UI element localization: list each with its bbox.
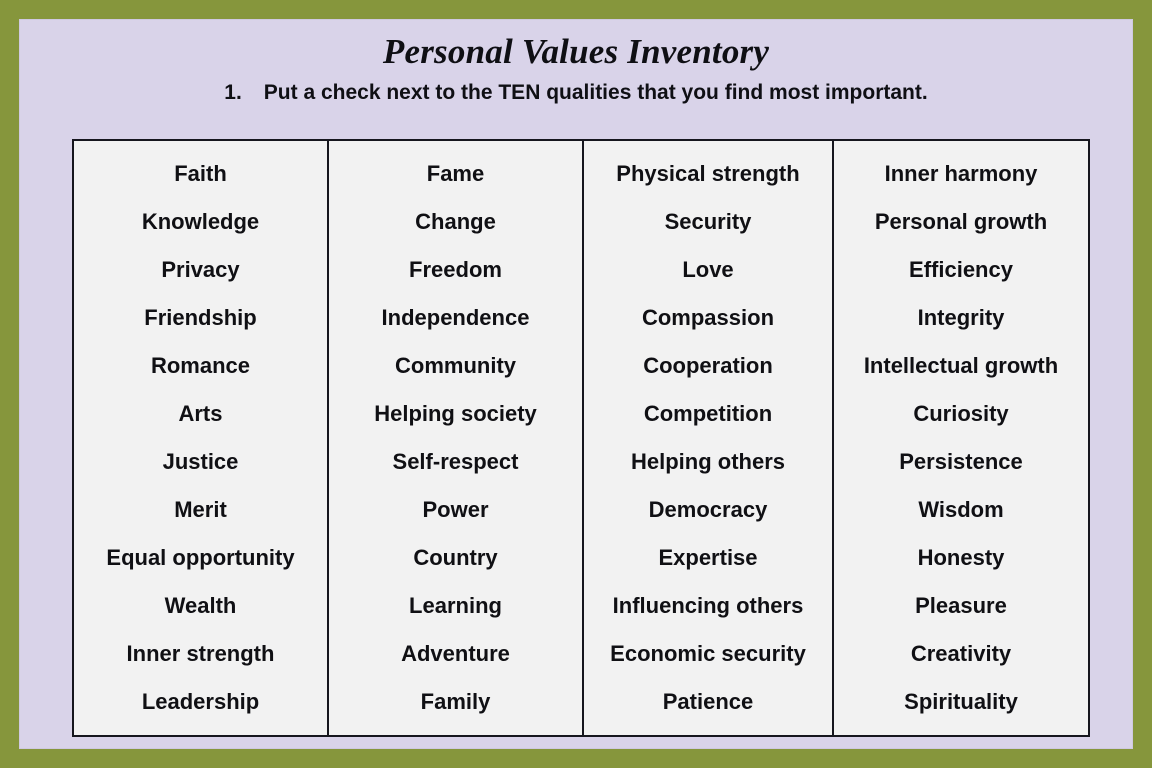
value-item[interactable]: Democracy — [584, 486, 832, 534]
value-item[interactable]: Expertise — [584, 534, 832, 582]
values-column-2-inner: Fame Change Freedom Independence Communi… — [329, 141, 582, 735]
page-frame: Personal Values Inventory 1.Put a check … — [0, 0, 1152, 768]
value-item[interactable]: Family — [329, 678, 582, 726]
value-item[interactable]: Adventure — [329, 630, 582, 678]
value-item[interactable]: Persistence — [834, 438, 1088, 486]
value-item[interactable]: Economic security — [584, 630, 832, 678]
values-column-1-inner: Faith Knowledge Privacy Friendship Roman… — [74, 141, 327, 735]
value-item[interactable]: Power — [329, 486, 582, 534]
value-item[interactable]: Faith — [74, 150, 327, 198]
value-item[interactable]: Self-respect — [329, 438, 582, 486]
value-item[interactable]: Wealth — [74, 582, 327, 630]
value-item[interactable]: Curiosity — [834, 390, 1088, 438]
value-item[interactable]: Helping others — [584, 438, 832, 486]
value-item[interactable]: Friendship — [74, 294, 327, 342]
values-column-2: Fame Change Freedom Independence Communi… — [328, 140, 583, 736]
value-item[interactable]: Community — [329, 342, 582, 390]
value-item[interactable]: Merit — [74, 486, 327, 534]
value-item[interactable]: Leadership — [74, 678, 327, 726]
value-item[interactable]: Change — [329, 198, 582, 246]
values-column-3: Physical strength Security Love Compassi… — [583, 140, 833, 736]
value-item[interactable]: Security — [584, 198, 832, 246]
instruction-line: 1.Put a check next to the TEN qualities … — [20, 81, 1132, 105]
value-item[interactable]: Cooperation — [584, 342, 832, 390]
value-item[interactable]: Physical strength — [584, 150, 832, 198]
value-item[interactable]: Influencing others — [584, 582, 832, 630]
value-item[interactable]: Arts — [74, 390, 327, 438]
value-item[interactable]: Wisdom — [834, 486, 1088, 534]
value-item[interactable]: Personal growth — [834, 198, 1088, 246]
value-item[interactable]: Compassion — [584, 294, 832, 342]
instruction-number: 1. — [224, 81, 242, 105]
value-item[interactable]: Helping society — [329, 390, 582, 438]
value-item[interactable]: Country — [329, 534, 582, 582]
value-item[interactable]: Knowledge — [74, 198, 327, 246]
instruction-text: Put a check next to the TEN qualities th… — [264, 81, 928, 104]
values-column-3-inner: Physical strength Security Love Compassi… — [584, 141, 832, 735]
value-item[interactable]: Intellectual growth — [834, 342, 1088, 390]
worksheet-sheet: Personal Values Inventory 1.Put a check … — [19, 19, 1133, 749]
value-item[interactable]: Pleasure — [834, 582, 1088, 630]
value-item[interactable]: Romance — [74, 342, 327, 390]
value-item[interactable]: Justice — [74, 438, 327, 486]
value-item[interactable]: Patience — [584, 678, 832, 726]
page-title: Personal Values Inventory — [20, 20, 1132, 72]
value-item[interactable]: Spirituality — [834, 678, 1088, 726]
value-item[interactable]: Freedom — [329, 246, 582, 294]
value-item[interactable]: Fame — [329, 150, 582, 198]
value-item[interactable]: Inner strength — [74, 630, 327, 678]
value-item[interactable]: Efficiency — [834, 246, 1088, 294]
values-column-4: Inner harmony Personal growth Efficiency… — [833, 140, 1089, 736]
value-item[interactable]: Independence — [329, 294, 582, 342]
value-item[interactable]: Competition — [584, 390, 832, 438]
value-item[interactable]: Love — [584, 246, 832, 294]
value-item[interactable]: Creativity — [834, 630, 1088, 678]
value-item[interactable]: Inner harmony — [834, 150, 1088, 198]
value-item[interactable]: Learning — [329, 582, 582, 630]
values-table: Faith Knowledge Privacy Friendship Roman… — [72, 139, 1090, 737]
values-column-1: Faith Knowledge Privacy Friendship Roman… — [73, 140, 328, 736]
values-column-4-inner: Inner harmony Personal growth Efficiency… — [834, 141, 1088, 735]
value-item[interactable]: Honesty — [834, 534, 1088, 582]
value-item[interactable]: Privacy — [74, 246, 327, 294]
value-item[interactable]: Integrity — [834, 294, 1088, 342]
value-item[interactable]: Equal opportunity — [74, 534, 327, 582]
table-row: Faith Knowledge Privacy Friendship Roman… — [73, 140, 1089, 736]
